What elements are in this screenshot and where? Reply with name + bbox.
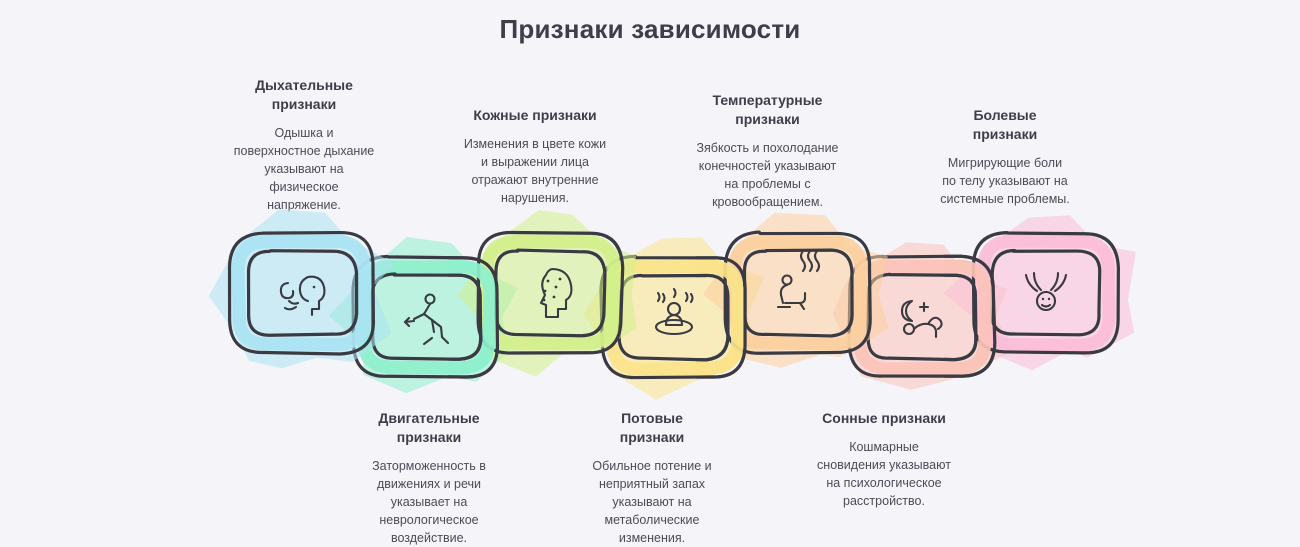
label-block-respiratory: Дыхательные признаки Одышка и поверхност… xyxy=(213,76,395,214)
label-block-sleep: Сонные признаки Кошмарные сновидения ука… xyxy=(788,409,980,510)
label-heading-sweat: Потовые признаки xyxy=(560,409,744,447)
label-heading-motor: Двигательные признаки xyxy=(333,409,525,447)
label-body-motor: Заторможенность в движениях и речи указы… xyxy=(333,457,525,547)
label-heading-pain: Болевые признаки xyxy=(912,106,1098,144)
label-heading-sleep: Сонные признаки xyxy=(788,409,980,428)
label-block-temperature: Температурные признаки Зябкость и похоло… xyxy=(665,91,870,211)
label-body-respiratory: Одышка и поверхностное дыхание указывают… xyxy=(213,124,395,215)
label-body-skin: Изменения в цвете кожи и выражении лица … xyxy=(442,135,628,208)
page-title: Признаки зависимости xyxy=(0,14,1300,45)
label-body-sleep: Кошмарные сновидения указывают на психол… xyxy=(788,438,980,511)
label-body-sweat: Обильное потение и неприятный запах указ… xyxy=(560,457,744,547)
label-body-temperature: Зябкость и похолодание конечностей указы… xyxy=(665,139,870,212)
label-heading-temperature: Температурные признаки xyxy=(665,91,870,129)
label-block-skin: Кожные признаки Изменения в цвете кожи и… xyxy=(442,106,628,207)
label-body-pain: Мигрирующие боли по телу указывают на си… xyxy=(912,154,1098,208)
label-block-sweat: Потовые признаки Обильное потение и непр… xyxy=(560,409,744,547)
chain-link-1[interactable] xyxy=(209,209,395,368)
label-heading-skin: Кожные признаки xyxy=(442,106,628,125)
label-block-motor: Двигательные признаки Заторможенность в … xyxy=(333,409,525,547)
label-block-pain: Болевые признаки Мигрирующие боли по тел… xyxy=(912,106,1098,208)
infographic-canvas: Признаки зависимости Дыхательные признак… xyxy=(0,0,1300,546)
label-heading-respiratory: Дыхательные признаки xyxy=(213,76,395,114)
